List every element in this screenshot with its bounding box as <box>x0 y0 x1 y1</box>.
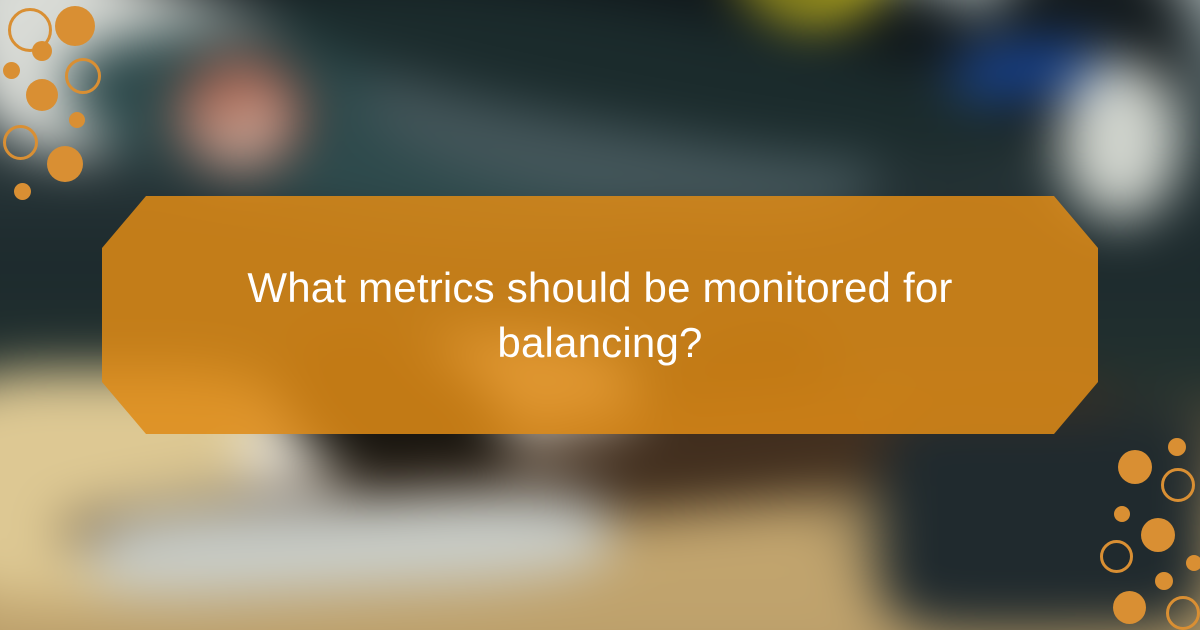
decorative-ring <box>1161 468 1195 502</box>
decorative-dot <box>1155 572 1173 590</box>
decorative-dot <box>1118 450 1152 484</box>
decorative-dot <box>1114 506 1130 522</box>
decorative-ring <box>3 125 38 160</box>
decorative-ring <box>1100 540 1133 573</box>
bg-shape-pale-right <box>1060 60 1180 220</box>
decorative-dot <box>1186 555 1200 571</box>
decorative-dot <box>69 112 85 128</box>
decorative-dot <box>47 146 83 182</box>
bg-shape-red-core <box>212 90 256 136</box>
decorative-dot <box>14 183 31 200</box>
decorative-dot <box>55 6 95 46</box>
decorative-dot <box>32 41 52 61</box>
decorative-ring <box>65 58 101 94</box>
social-card: What metrics should be monitored for bal… <box>0 0 1200 630</box>
decorative-dot <box>1141 518 1175 552</box>
decorative-ring <box>1166 596 1200 630</box>
decorative-dot <box>1113 591 1146 624</box>
headline-banner: What metrics should be monitored for bal… <box>102 196 1098 434</box>
decorative-dot <box>1168 438 1186 456</box>
decorative-dot <box>26 79 58 111</box>
decorative-dot <box>3 62 20 79</box>
page-title: What metrics should be monitored for bal… <box>230 260 970 371</box>
